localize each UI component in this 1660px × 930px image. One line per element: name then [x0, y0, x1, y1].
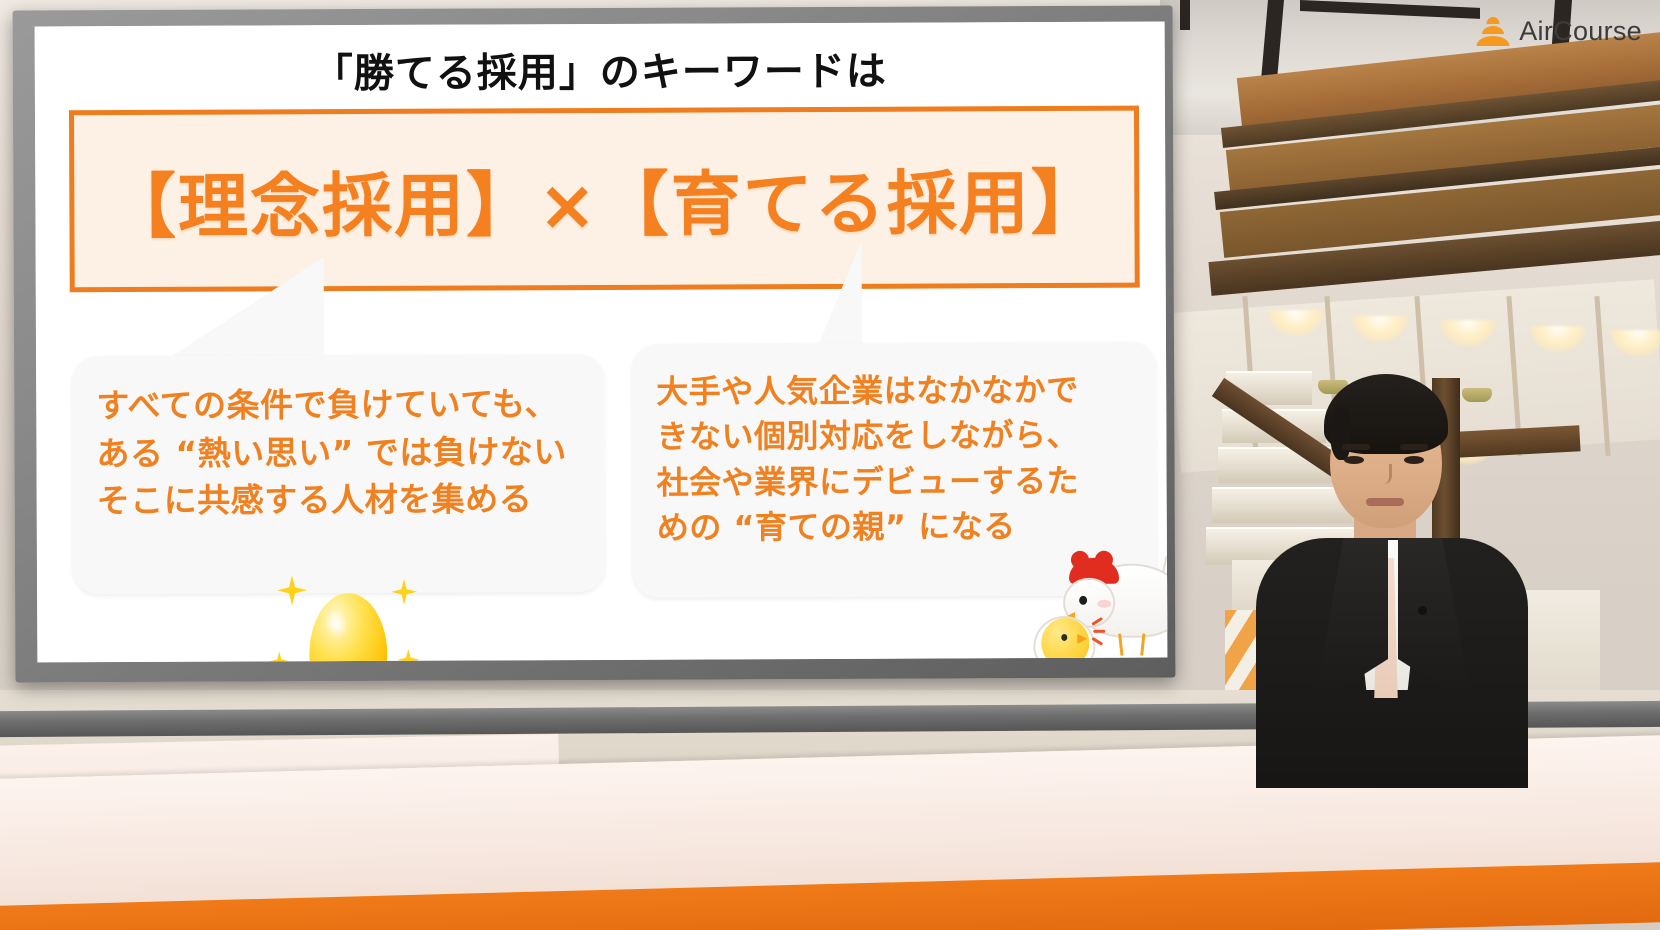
bubble-left-line-2: ある “熱い思い” では負けない	[96, 428, 582, 478]
presentation-screen: 「勝てる採用」のキーワードは 【理念採用】×【育てる採用】 すべての条件で負けて…	[35, 22, 1168, 663]
slide-title: 「勝てる採用」のキーワードは	[35, 38, 1165, 101]
bubble-right-line-1: 大手や人気企業はなかなかで	[656, 368, 1134, 416]
presenter-hair	[1324, 374, 1448, 454]
presenter-figure	[1242, 352, 1542, 772]
video-frame: 「勝てる採用」のキーワードは 【理念採用】×【育てる採用】 すべての条件で負けて…	[0, 0, 1660, 930]
presentation-screen-bezel: 「勝てる採用」のキーワードは 【理念採用】×【育てる採用】 すべての条件で負けて…	[13, 5, 1176, 682]
golden-egg-icon	[265, 565, 426, 663]
aircourse-logo-text: AirCourse	[1519, 16, 1642, 47]
slide-content: 「勝てる採用」のキーワードは 【理念採用】×【育てる採用】 すべての条件で負けて…	[35, 22, 1168, 663]
bubble-left-line-1: すべての条件で負けていても、	[96, 380, 582, 430]
ceiling-strut	[1180, 0, 1190, 30]
speech-bubble-left: すべての条件で負けていても、 ある “熱い思い” では負けない そこに共感する人…	[72, 354, 605, 594]
headline-text: 【理念採用】×【育てる採用】	[106, 146, 1103, 251]
bubble-right-line-2: きない個別対応をしながら、	[656, 413, 1134, 461]
stacked-arcs-logo-icon	[1476, 17, 1510, 47]
hen-and-chick-icon	[1023, 533, 1168, 662]
lapel-microphone-icon	[1418, 606, 1427, 615]
bubble-right-line-3: 社会や業界にデビューするた	[657, 459, 1135, 507]
bubble-left-line-3: そこに共感する人材を集める	[97, 475, 583, 525]
aircourse-logo: AirCourse	[1476, 16, 1642, 47]
